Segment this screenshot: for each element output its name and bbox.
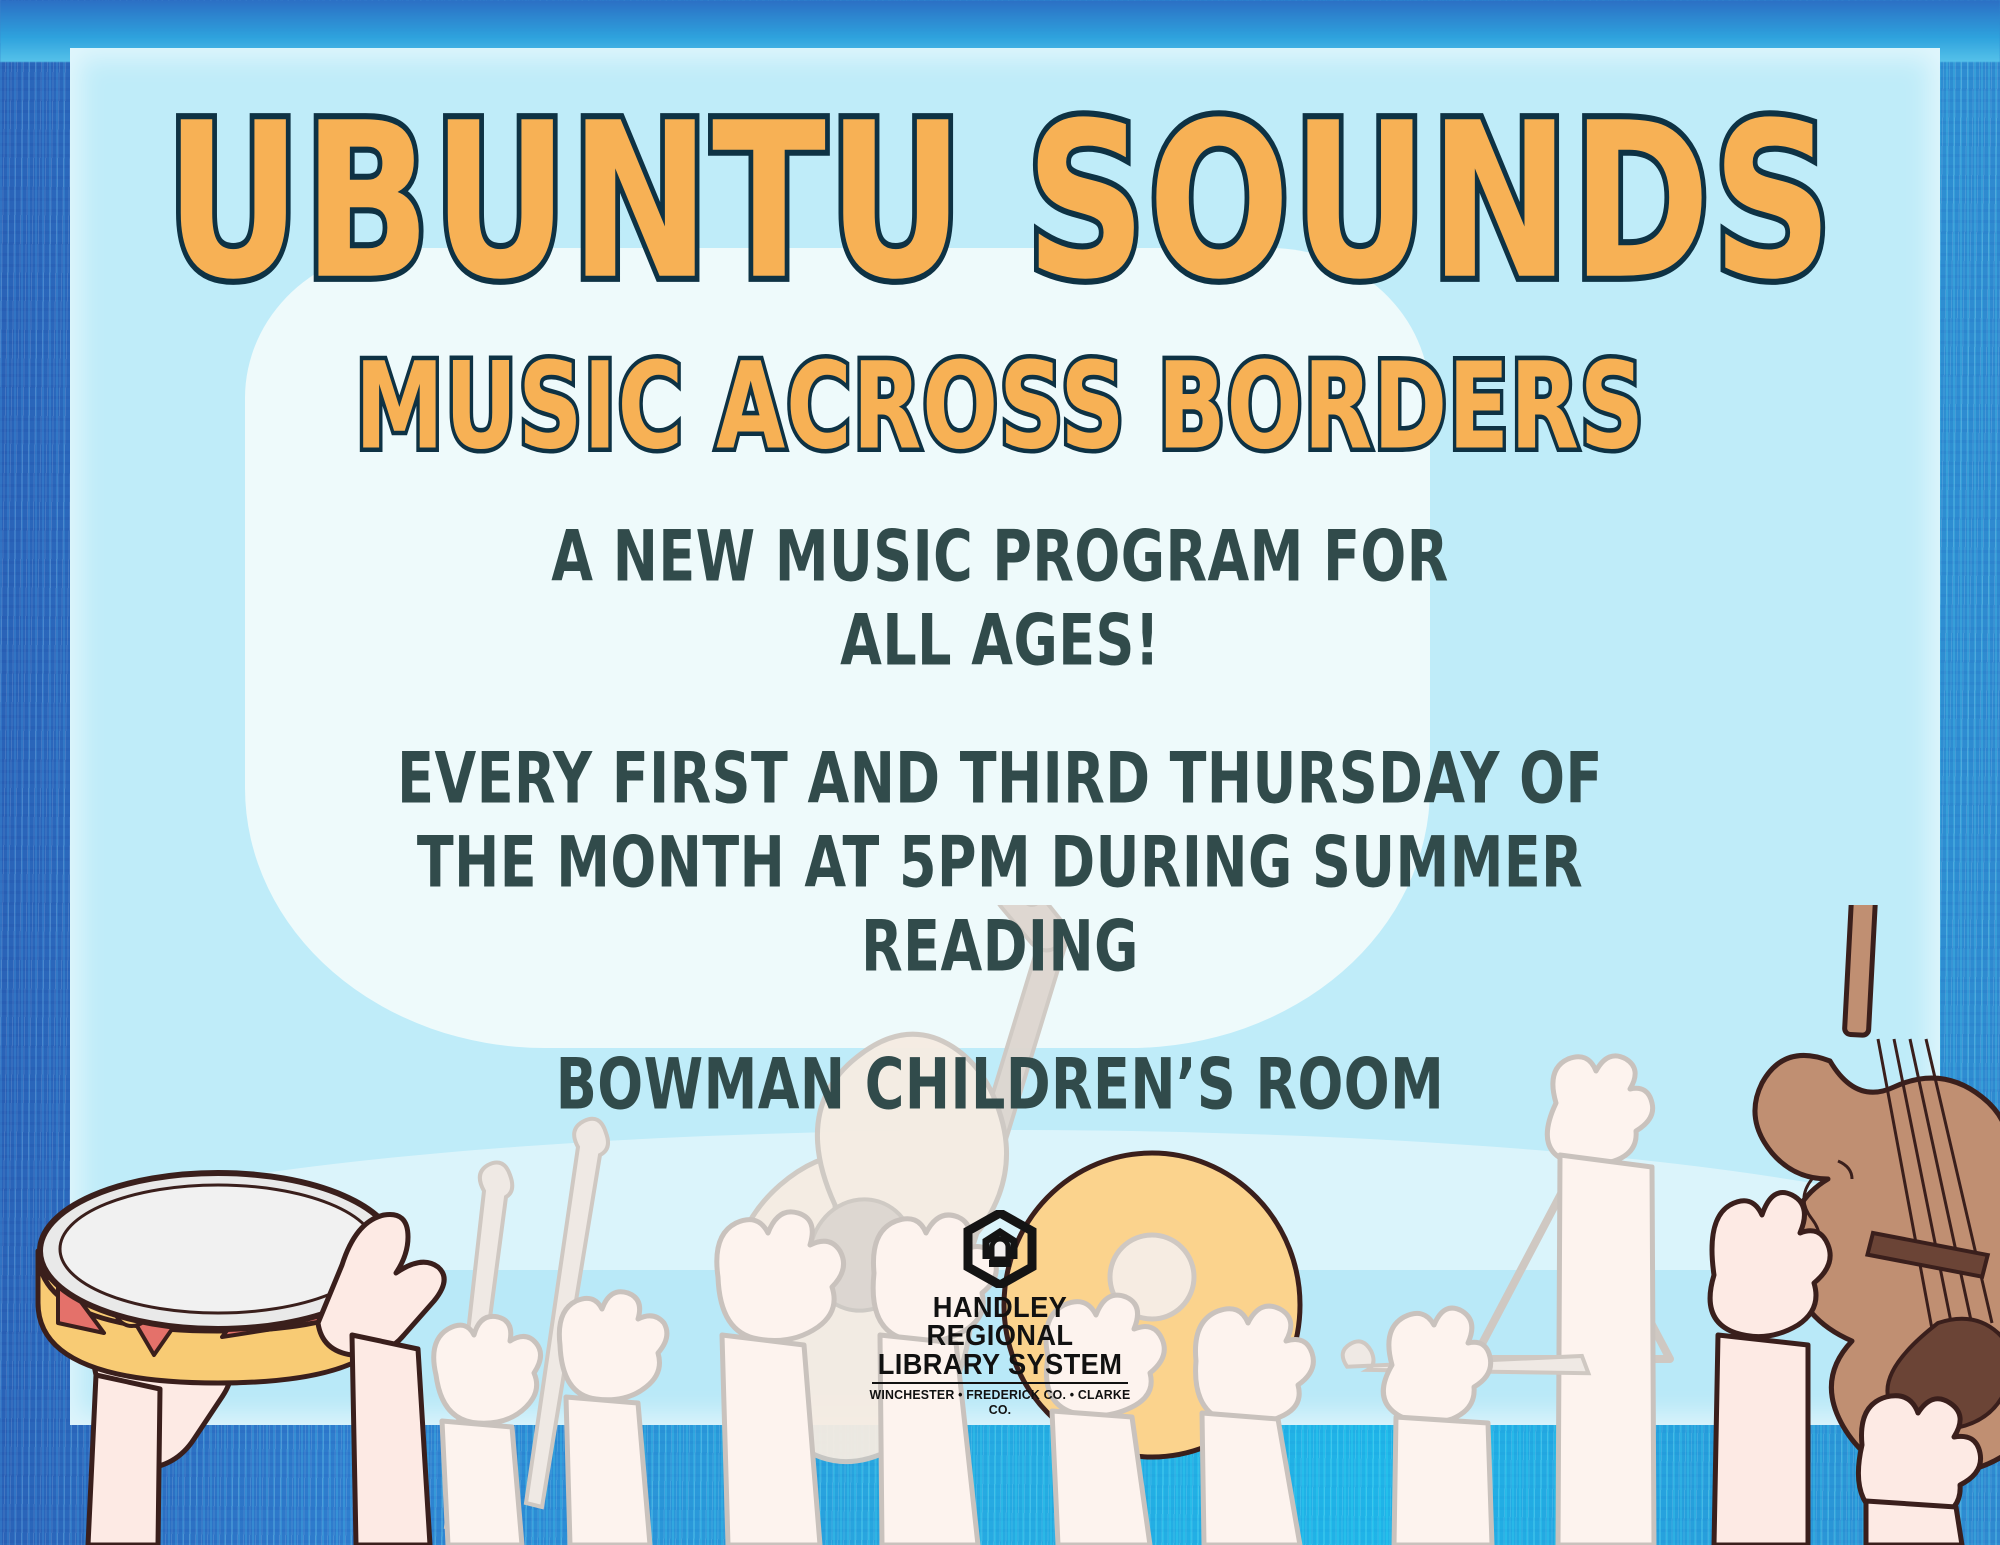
logo-tagline: WINCHESTER • FREDERICK CO. • CLARKE CO. [858,1387,1143,1417]
hexagon-building-icon [961,1210,1039,1288]
logo-name-line-1: HANDLEY REGIONAL [859,1294,1141,1351]
library-logo: HANDLEY REGIONAL LIBRARY SYSTEM WINCHEST… [850,1210,1150,1417]
logo-name-line-2: LIBRARY SYSTEM [859,1351,1141,1379]
poster-canvas: .sk{fill:#fdeae4;stroke:#3a1f1c;stroke-w… [0,0,2000,1545]
logo-divider [872,1382,1128,1384]
